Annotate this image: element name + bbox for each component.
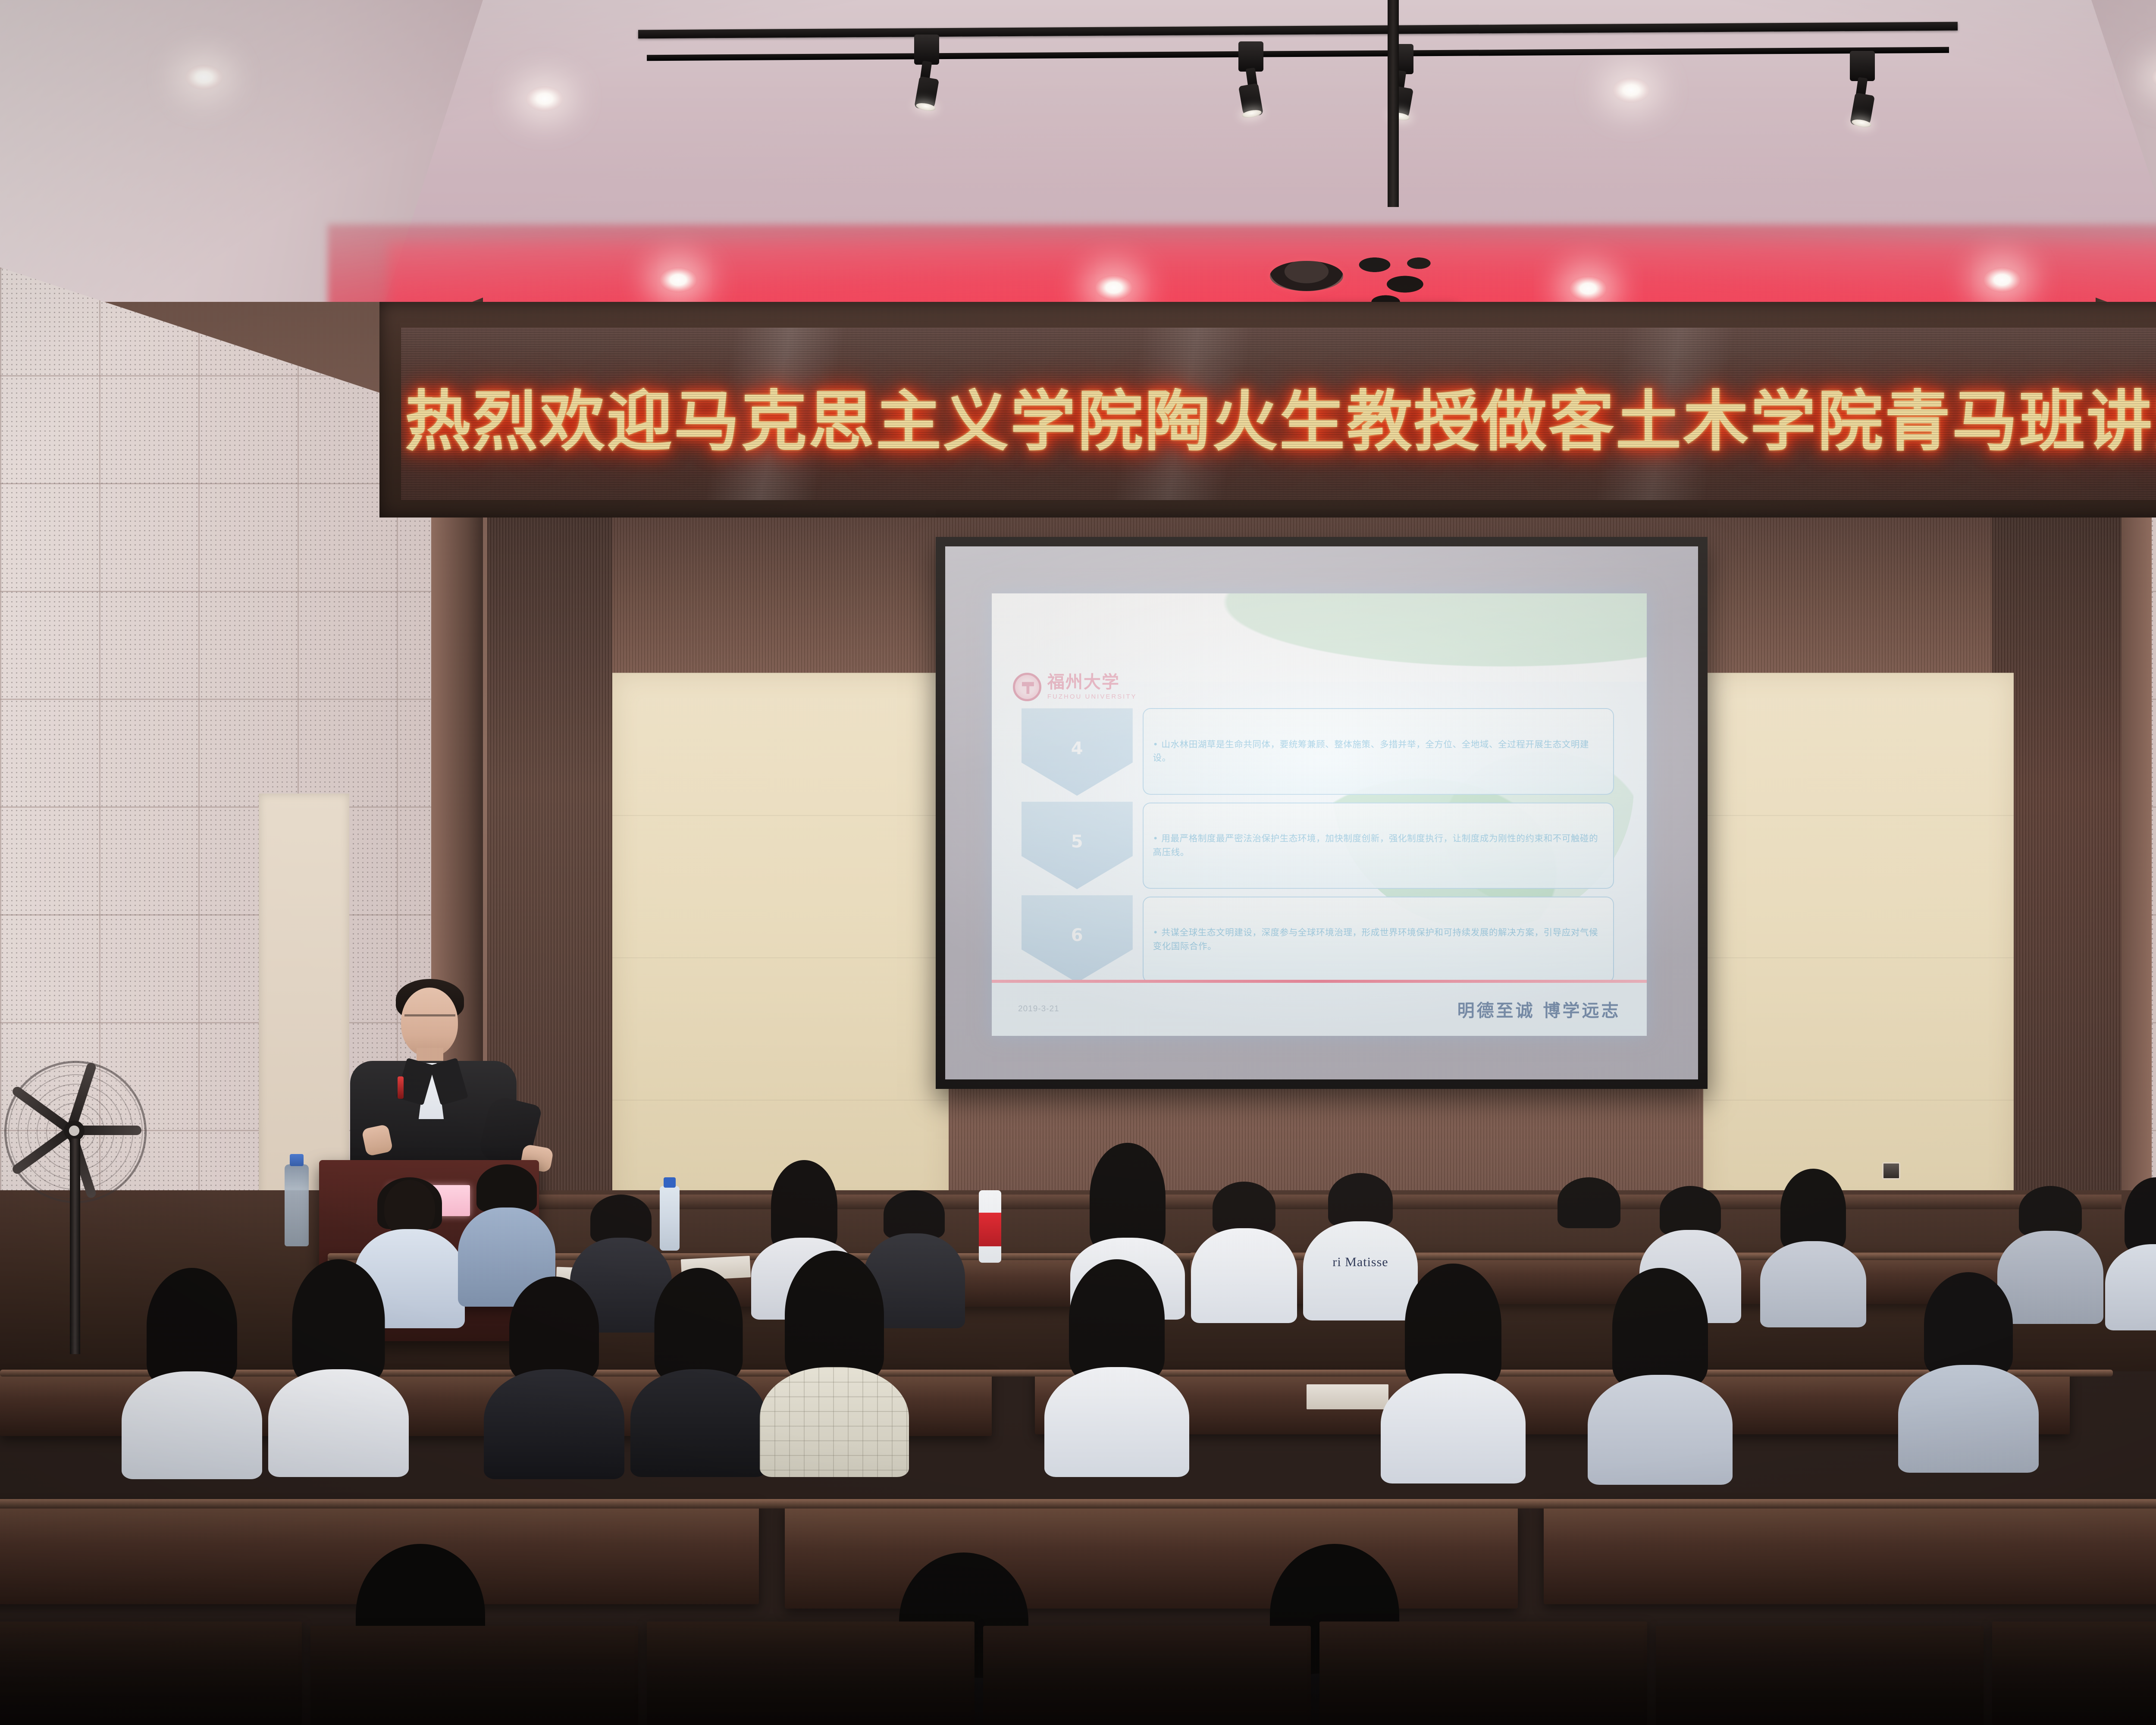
slide-bullet-list: 山水林田湖草是生命共同体，要统筹兼顾、整体施策、多措并举，全方位、全地域、全过程…	[1143, 708, 1614, 982]
audience-member	[1190, 1182, 1298, 1315]
audience-member	[630, 1268, 768, 1462]
downlight	[526, 86, 563, 111]
water-bottle-red	[979, 1190, 1001, 1263]
seat-back	[647, 1621, 975, 1725]
wall-panel-right	[1703, 673, 2014, 1212]
seat-back	[310, 1626, 638, 1725]
chevron-number: 6	[1071, 925, 1083, 945]
downlight	[660, 267, 697, 292]
downlight	[185, 65, 222, 90]
water-bottle-podium	[285, 1164, 309, 1246]
slide-motto: 明德至诚 博学远志	[1457, 997, 1621, 1022]
slide-bullet-text: 共谋全球生态文明建设，深度参与全球环境治理，形成世界环境保护和可持续发展的解决方…	[1153, 926, 1604, 953]
audience-member	[1380, 1264, 1526, 1466]
track-spotlight	[1850, 51, 1876, 124]
seat-back	[983, 1626, 1311, 1725]
audience-member	[121, 1268, 263, 1462]
audience-member	[1044, 1259, 1190, 1462]
slide-bullet: 用最严格制度最严密法治保护生态环境，加快制度创新，强化制度执行，让制度成为刚性的…	[1143, 803, 1614, 889]
audience-member	[1759, 1169, 1867, 1311]
downlight	[1613, 78, 1650, 103]
audience-member	[1897, 1272, 2040, 1466]
seat-back	[1992, 1621, 2156, 1725]
seat-back	[1319, 1621, 1647, 1725]
audience-seating: ri Matisse	[0, 1242, 2156, 1725]
downlight	[1570, 276, 1607, 301]
university-logo: 福州大学 FUZHOU UNIVERSITY	[1013, 673, 1137, 701]
pew-rail	[0, 1499, 2156, 1509]
lecture-hall-photo: 热烈欢迎马克思主义学院陶火生教授做客土木学院青马班讲堂 福州大学 FUZHOU …	[0, 0, 2156, 1725]
seat-back	[1656, 1626, 1984, 1725]
chevron-marker: 6	[1022, 895, 1133, 983]
led-banner-text: 热烈欢迎马克思主义学院陶火生教授做客土木学院青马班讲堂	[405, 368, 2156, 463]
projection-screen: 福州大学 FUZHOU UNIVERSITY 4 5 6 山水林田湖草是生命共同…	[945, 546, 1698, 1079]
university-seal-icon	[1013, 673, 1041, 701]
audience-member	[267, 1259, 410, 1458]
track-spotlight	[914, 34, 940, 108]
projector-mount-pole	[1388, 0, 1399, 207]
wall-outlet-icon	[1882, 1162, 1900, 1179]
projection-screen-frame: 福州大学 FUZHOU UNIVERSITY 4 5 6 山水林田湖草是生命共同…	[936, 537, 1708, 1089]
chevron-marker: 4	[1022, 708, 1133, 796]
audience-member	[759, 1251, 910, 1462]
paper-sheet	[1307, 1384, 1388, 1409]
audience-member	[483, 1276, 625, 1466]
glasses-icon	[404, 1014, 455, 1024]
downlight	[1984, 267, 2021, 292]
slide-divider-rule	[992, 980, 1647, 983]
led-banner: 热烈欢迎马克思主义学院陶火生教授做客土木学院青马班讲堂	[401, 328, 2156, 500]
chevron-number: 5	[1071, 832, 1083, 852]
audience-member	[2104, 1177, 2156, 1311]
slide-date: 2019-3-21	[1018, 1004, 1059, 1014]
presentation-slide: 福州大学 FUZHOU UNIVERSITY 4 5 6 山水林田湖草是生命共同…	[992, 593, 1647, 1036]
slide-bullet: 共谋全球生态文明建设，深度参与全球环境治理，形成世界环境保护和可持续发展的解决方…	[1143, 897, 1614, 983]
downlight	[1095, 275, 1132, 300]
university-name-en: FUZHOU UNIVERSITY	[1047, 693, 1137, 700]
university-name-cn: 福州大学	[1047, 674, 1137, 691]
fan-hub	[64, 1120, 85, 1141]
slide-bullet-text: 山水林田湖草是生命共同体，要统筹兼顾、整体施策、多措并举，全方位、全地域、全过程…	[1153, 738, 1604, 765]
slide-chevron-column: 4 5 6	[1022, 708, 1133, 982]
wall-panel-left	[612, 673, 949, 1212]
slide-bullet: 山水林田湖草是生命共同体，要统筹兼顾、整体施策、多措并举，全方位、全地域、全过程…	[1143, 708, 1614, 794]
pew-desk	[1544, 1501, 2156, 1604]
chevron-number: 4	[1071, 739, 1083, 759]
seat-back	[0, 1621, 302, 1725]
slide-footer: 2019-3-21 明德至诚 博学远志	[992, 983, 1647, 1036]
track-spotlight	[1238, 41, 1263, 115]
chevron-marker: 5	[1022, 802, 1133, 889]
lapel-microphone-icon	[398, 1076, 404, 1099]
slide-bullet-text: 用最严格制度最严密法治保护生态环境，加快制度创新，强化制度执行，让制度成为刚性的…	[1153, 832, 1604, 859]
audience-member	[1587, 1268, 1733, 1471]
